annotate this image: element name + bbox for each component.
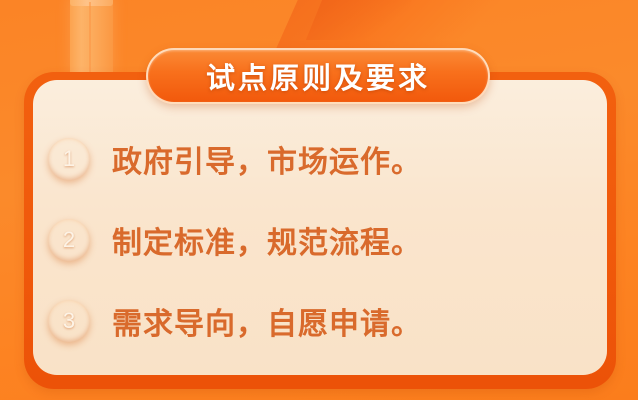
list-item-number: 1 <box>63 148 75 170</box>
poster-root: 试点原则及要求 1 政府引导，市场运作。 2 制定标准，规范流程。 3 需求导向… <box>0 0 638 400</box>
page-title: 试点原则及要求 <box>206 55 430 97</box>
list-item: 3 需求导向，自愿申请。 <box>48 280 592 361</box>
list-item-number-badge: 2 <box>48 219 90 261</box>
list-item-text: 制定标准，规范流程。 <box>112 218 422 262</box>
pillar-seam-decoration <box>89 2 91 72</box>
pillar-decoration <box>70 0 113 74</box>
list-item-number-badge: 3 <box>48 300 90 342</box>
list-item: 2 制定标准，规范流程。 <box>48 199 592 280</box>
pillar-cap-decoration <box>70 0 113 6</box>
list-item-number-badge: 1 <box>48 138 90 180</box>
list-item: 1 政府引导，市场运作。 <box>48 118 592 199</box>
list-item-number: 2 <box>63 229 75 251</box>
list-item-text: 需求导向，自愿申请。 <box>112 299 422 343</box>
principles-list: 1 政府引导，市场运作。 2 制定标准，规范流程。 3 需求导向，自愿申请。 <box>0 118 592 361</box>
list-item-number: 3 <box>63 310 75 332</box>
list-item-text: 政府引导，市场运作。 <box>112 137 422 181</box>
title-badge: 试点原则及要求 <box>146 48 490 104</box>
